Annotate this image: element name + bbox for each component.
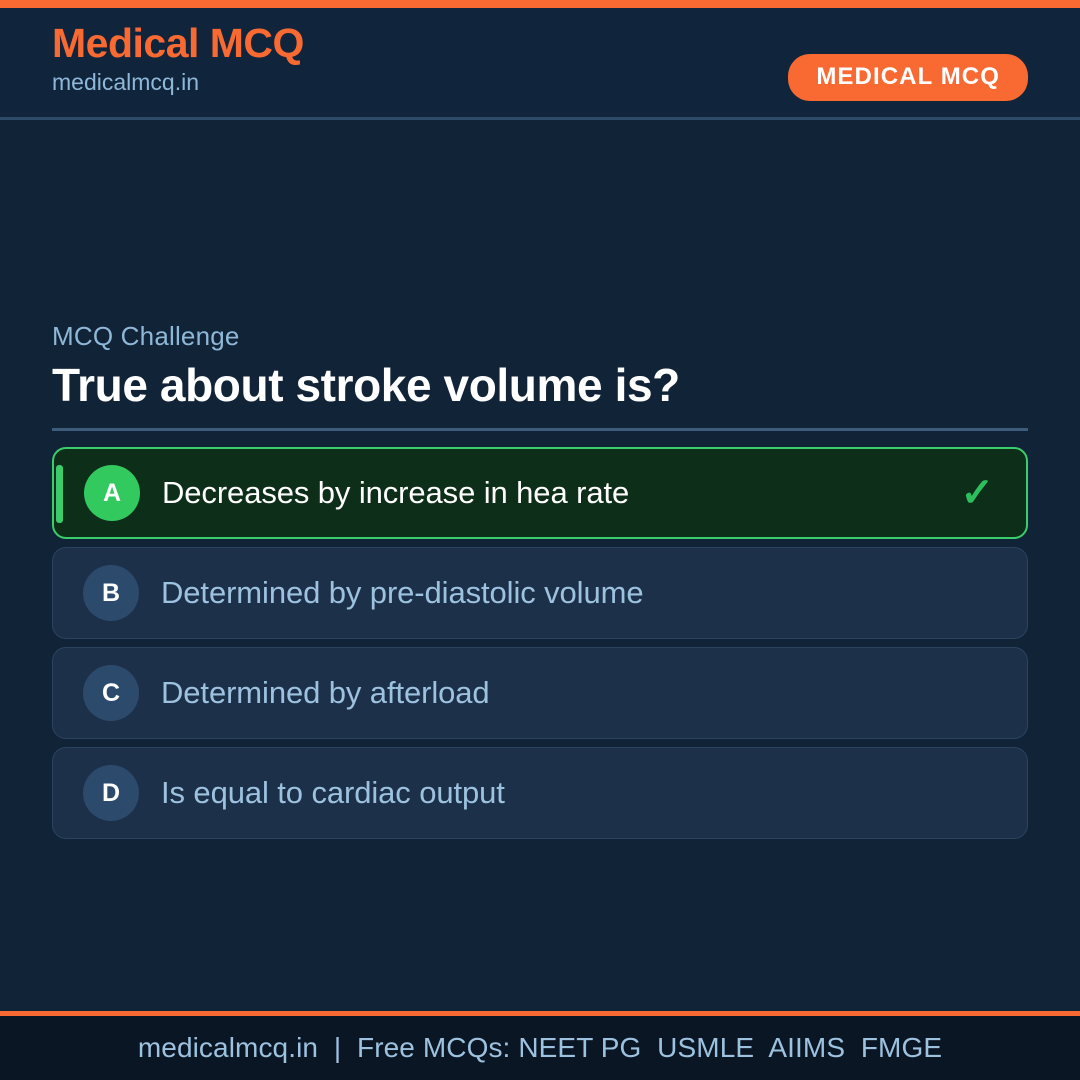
brand: Medical MCQ medicalmcq.in	[52, 21, 304, 98]
question-divider	[52, 428, 1028, 431]
question-kicker: MCQ Challenge	[52, 320, 1028, 353]
question-block: MCQ Challenge True about stroke volume i…	[52, 320, 1028, 413]
option-letter-d: D	[83, 765, 139, 821]
site-header: Medical MCQ medicalmcq.in MEDICAL MCQ	[0, 8, 1080, 120]
option-c[interactable]: C Determined by afterload	[52, 647, 1028, 739]
option-text-c: Determined by afterload	[161, 674, 490, 711]
option-letter-c: C	[83, 665, 139, 721]
brand-url: medicalmcq.in	[52, 67, 304, 98]
option-text-b: Determined by pre-diastolic volume	[161, 574, 643, 611]
question-title: True about stroke volume is?	[52, 357, 1028, 413]
option-b[interactable]: B Determined by pre-diastolic volume	[52, 547, 1028, 639]
option-d[interactable]: D Is equal to cardiac output	[52, 747, 1028, 839]
option-letter-b: B	[83, 565, 139, 621]
brand-badge: MEDICAL MCQ	[788, 54, 1028, 101]
option-text-d: Is equal to cardiac output	[161, 774, 505, 811]
top-accent-bar	[0, 0, 1080, 8]
option-a[interactable]: A Decreases by increase in hea rate ✓	[52, 447, 1028, 539]
footer-text: medicalmcq.in | Free MCQs: NEET PG USMLE…	[138, 1032, 942, 1064]
option-text-a: Decreases by increase in hea rate	[162, 474, 629, 511]
site-footer: medicalmcq.in | Free MCQs: NEET PG USMLE…	[0, 1016, 1080, 1080]
brand-title: Medical MCQ	[52, 21, 304, 65]
options-list: A Decreases by increase in hea rate ✓ B …	[52, 447, 1028, 847]
check-icon: ✓	[960, 473, 994, 513]
option-letter-a: A	[84, 465, 140, 521]
correct-accent-bar	[56, 465, 63, 523]
